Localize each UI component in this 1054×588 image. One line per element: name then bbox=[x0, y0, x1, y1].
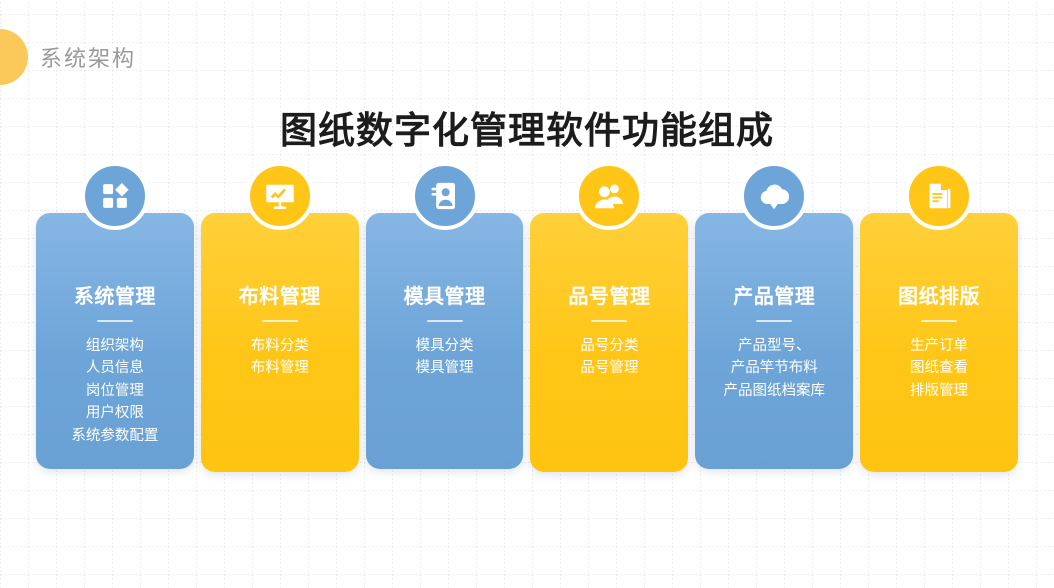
card-title: 布料管理 bbox=[201, 285, 359, 309]
card-item: 生产订单 bbox=[866, 335, 1012, 357]
card-item: 品号管理 bbox=[536, 357, 682, 379]
cloud-upload-icon bbox=[740, 162, 808, 230]
card-item: 图纸查看 bbox=[866, 357, 1012, 379]
card-divider bbox=[921, 320, 957, 322]
card-item-list: 模具分类模具管理 bbox=[366, 335, 524, 380]
card-item: 品号分类 bbox=[536, 335, 682, 357]
card-divider bbox=[427, 320, 463, 322]
card-divider bbox=[591, 320, 627, 322]
card-item: 布料管理 bbox=[207, 357, 353, 379]
card-divider bbox=[262, 320, 298, 322]
card-title: 产品管理 bbox=[695, 285, 853, 309]
monitor-chart-icon bbox=[246, 162, 314, 230]
card-divider bbox=[756, 320, 792, 322]
section-eyebrow-label: 系统架构 bbox=[40, 41, 136, 73]
card-item: 产品竿节布料 bbox=[701, 357, 847, 379]
card-item: 排版管理 bbox=[866, 380, 1012, 402]
document-book-icon bbox=[905, 162, 973, 230]
card-item: 组织架构 bbox=[42, 335, 188, 357]
feature-card-4[interactable]: 品号管理品号分类品号管理 bbox=[530, 213, 688, 472]
card-item: 用户权限 bbox=[42, 402, 188, 424]
card-item: 模具管理 bbox=[372, 357, 518, 379]
feature-card-5[interactable]: 产品管理产品型号、产品竿节布料产品图纸档案库 bbox=[695, 213, 853, 469]
feature-card-1[interactable]: 系统管理组织架构人员信息岗位管理用户权限系统参数配置 bbox=[36, 213, 194, 469]
card-item: 产品图纸档案库 bbox=[701, 380, 847, 402]
dashboard-grid-icon bbox=[81, 162, 149, 230]
card-title: 系统管理 bbox=[36, 285, 194, 309]
card-item: 人员信息 bbox=[42, 357, 188, 379]
feature-card-6[interactable]: 图纸排版生产订单图纸查看排版管理 bbox=[860, 213, 1018, 472]
feature-card-2[interactable]: 布料管理布料分类布料管理 bbox=[201, 213, 359, 472]
card-item-list: 产品型号、产品竿节布料产品图纸档案库 bbox=[695, 335, 853, 402]
card-title: 图纸排版 bbox=[860, 285, 1018, 309]
id-card-icon bbox=[411, 162, 479, 230]
card-item-list: 生产订单图纸查看排版管理 bbox=[860, 335, 1018, 402]
card-item-list: 品号分类品号管理 bbox=[530, 335, 688, 380]
card-item: 产品型号、 bbox=[701, 335, 847, 357]
card-item-list: 组织架构人员信息岗位管理用户权限系统参数配置 bbox=[36, 335, 194, 447]
card-item: 布料分类 bbox=[207, 335, 353, 357]
feature-card-row: 系统管理组织架构人员信息岗位管理用户权限系统参数配置布料管理布料分类布料管理模具… bbox=[36, 213, 1018, 475]
card-title: 品号管理 bbox=[530, 285, 688, 309]
card-title: 模具管理 bbox=[366, 285, 524, 309]
card-item: 模具分类 bbox=[372, 335, 518, 357]
card-item: 系统参数配置 bbox=[42, 425, 188, 447]
card-divider bbox=[97, 320, 133, 322]
page-title: 图纸数字化管理软件功能组成 bbox=[0, 100, 1054, 154]
card-item: 岗位管理 bbox=[42, 380, 188, 402]
decorative-corner-circle bbox=[0, 29, 28, 85]
card-item-list: 布料分类布料管理 bbox=[201, 335, 359, 380]
feature-card-3[interactable]: 模具管理模具分类模具管理 bbox=[366, 213, 524, 469]
users-icon bbox=[575, 162, 643, 230]
